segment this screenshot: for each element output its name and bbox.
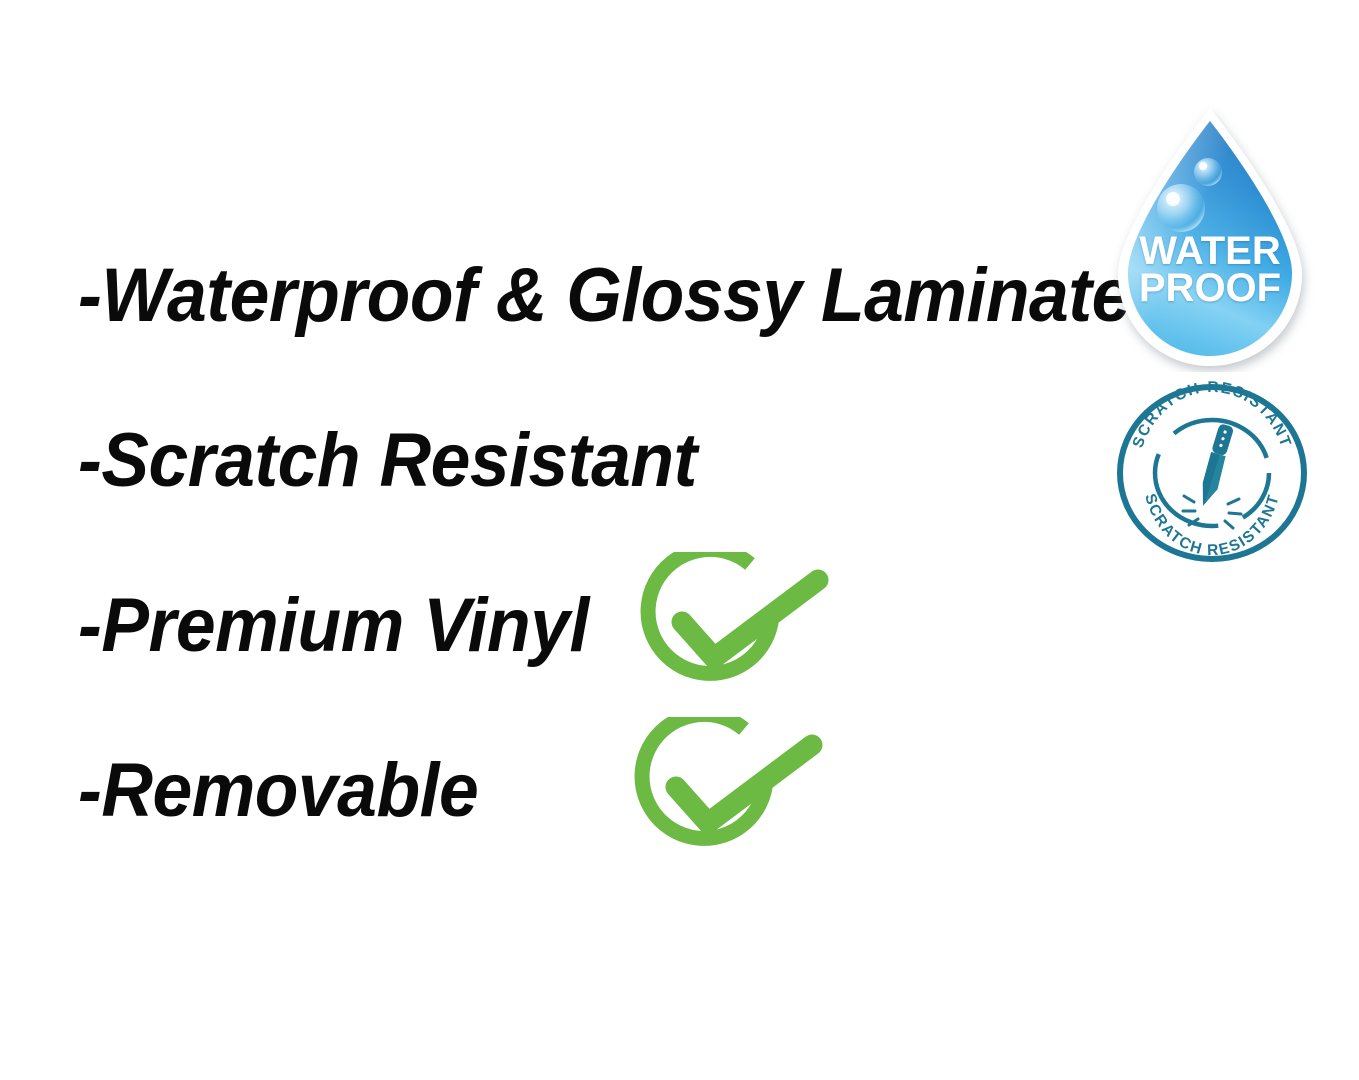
water-bubble-large-icon (1157, 184, 1205, 232)
checkmark-premium-vinyl (638, 552, 838, 712)
waterproof-badge: WATER PROOF (1102, 104, 1318, 372)
feature-item-premium-vinyl: -Premium Vinyl (78, 588, 589, 664)
water-bubble-small-icon (1194, 158, 1222, 186)
water-droplet-icon (1102, 104, 1318, 372)
feature-item-removable: -Removable (78, 753, 478, 829)
green-check-circle-icon (638, 552, 838, 712)
scratch-resistant-badge: SCRATCH RESISTANT SCRATCH RESISTANT (1112, 380, 1312, 566)
water-bubble-small-highlight (1199, 162, 1207, 170)
scratch-resistant-stamp-icon: SCRATCH RESISTANT SCRATCH RESISTANT (1112, 380, 1312, 566)
stamp-top-text: SCRATCH RESISTANT (1130, 380, 1295, 450)
scratch-sparks-icon (1183, 496, 1241, 528)
knife-icon (1195, 423, 1236, 508)
check-tick (682, 580, 818, 658)
feature-item-scratch-resistant: -Scratch Resistant (78, 423, 697, 499)
feature-list-canvas: -Waterproof & Glossy Laminated -Scratch … (0, 0, 1359, 1080)
feature-item-waterproof: -Waterproof & Glossy Laminated (78, 258, 1174, 334)
checkmark-removable (632, 717, 832, 877)
water-bubble-large-highlight (1166, 192, 1180, 206)
check-tick (676, 745, 812, 823)
droplet-sheen (1128, 121, 1292, 356)
green-check-circle-icon (632, 717, 832, 877)
